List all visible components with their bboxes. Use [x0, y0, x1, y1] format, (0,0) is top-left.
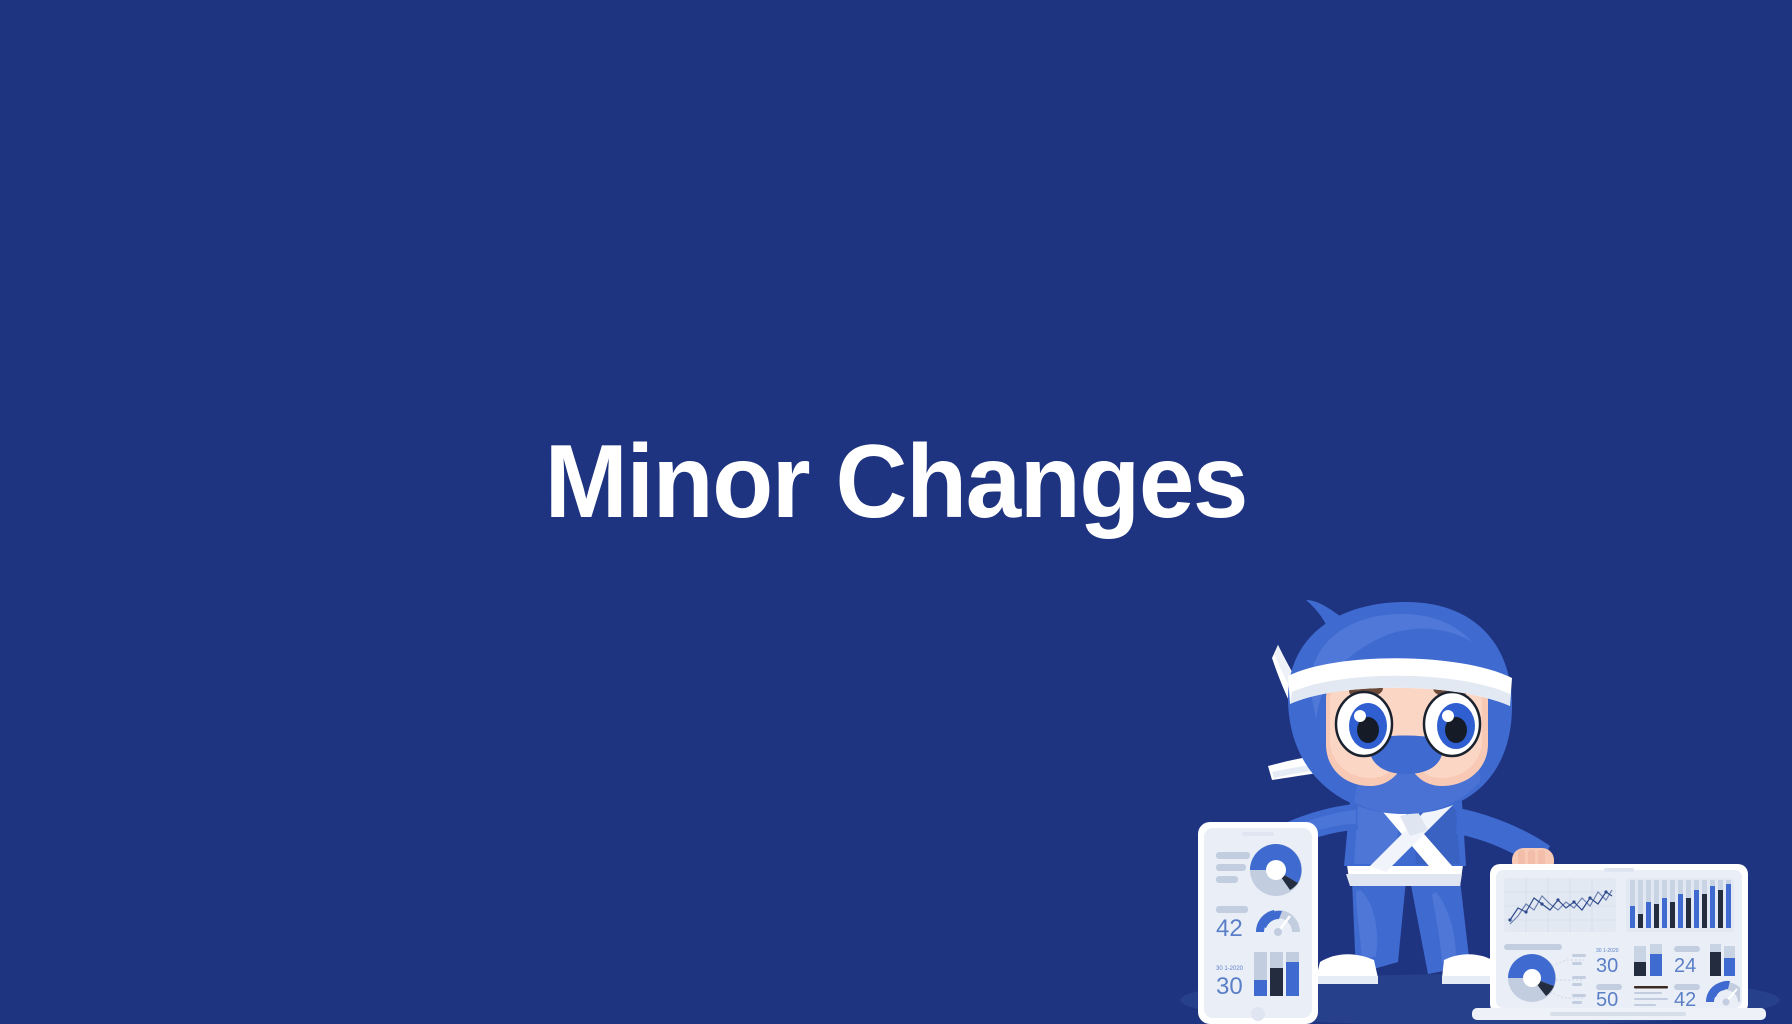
right-eye [1424, 692, 1480, 756]
laptop-metric-30: 30 [1596, 955, 1618, 977]
laptop-line-chart [1504, 878, 1616, 932]
title-block: Minor Changes [0, 430, 1792, 534]
laptop-metric-30-label: 30 1-2020 [1596, 948, 1619, 954]
laptop-bar-chart [1626, 878, 1734, 932]
ninja-head [1288, 600, 1512, 814]
smartphone-dashboard[interactable]: 42 30 1-2020 30 [1198, 822, 1318, 1024]
phone-metric-42: 42 [1216, 915, 1243, 942]
phone-metric-30: 30 [1216, 973, 1243, 1000]
laptop-dashboard[interactable]: 30 1-2020 30 24 [1472, 864, 1766, 1020]
page-title: Minor Changes [545, 430, 1247, 534]
ninja-analytics-illustration: 42 30 1-2020 30 [1160, 580, 1792, 1024]
phone-metric-label: 30 1-2020 [1216, 966, 1244, 972]
left-eye [1336, 692, 1392, 756]
laptop-metric-24: 24 [1674, 955, 1696, 977]
phone-bar-chart [1254, 952, 1299, 996]
slide-root: Minor Changes [0, 0, 1792, 1024]
phone-donut-chart [1250, 844, 1302, 896]
